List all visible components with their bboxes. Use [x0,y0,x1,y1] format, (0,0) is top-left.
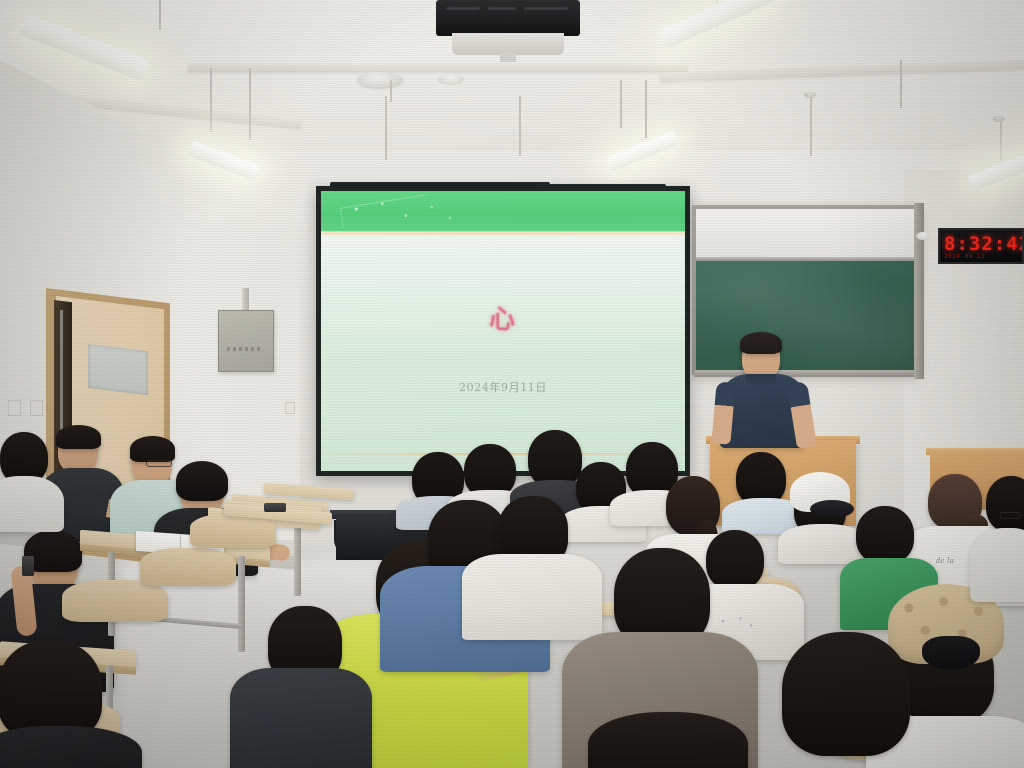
detector-stem [390,80,392,102]
hanger-rod-b [519,96,521,156]
torso [230,668,372,768]
light-rod-2 [210,68,212,132]
light-rod-4b [620,80,622,128]
head [782,632,910,756]
head [856,506,914,564]
chalkboard-right-edge [914,203,924,379]
light-rod-1 [159,0,161,30]
hair [130,436,175,462]
light-rod-5 [1000,120,1002,162]
torso [970,528,1024,602]
audience-member-dark-hair-front-right [764,632,934,768]
slide-header-decoration [333,197,463,227]
whiteboard-panel [696,209,916,259]
hanger-rod-d [900,60,902,108]
clock-time-display: 8:32:42 [944,233,1024,255]
chair-back [190,514,276,548]
smartphone-in-hand [22,556,34,576]
smoke-detector [357,72,403,88]
door-window [88,344,148,395]
light-mount-5 [993,116,1005,122]
electrical-panel-box [218,310,274,372]
wall-socket[interactable] [285,402,295,414]
audience-member-left-edge-back [0,432,64,522]
projection-screen: 心 2024年9月11日 [321,191,685,471]
slide-title: 心 [321,299,685,336]
presenter [714,330,834,470]
electrical-conduit [242,288,249,312]
presenter-collar [746,374,776,387]
slide-date: 2024年9月11日 [321,379,685,395]
ceiling-dome-light [438,74,464,85]
hanger-rod-a [385,96,387,160]
hanger-rod-c [810,96,812,156]
slide-header-band [321,191,685,235]
head [0,640,102,740]
smartphone-on-desk [264,503,286,512]
light-switch-plate-1[interactable] [8,400,21,416]
hanger-cap-c [804,92,816,98]
led-wall-clock: 8:32:42 2024 09 11 [938,228,1024,264]
light-rod-4 [645,80,647,138]
glasses [1000,512,1020,519]
light-rod-2b [249,68,251,140]
light-switch-plate-2[interactable] [30,400,43,416]
door-hinge-strip [60,310,63,430]
presenter-hair [740,332,782,354]
ceiling-beam-mid [188,64,688,72]
torso [0,726,142,768]
ceiling-projector [436,0,580,36]
audience-member-bottom-center [588,712,768,768]
wall-sensor [916,232,930,240]
classroom-photo-scene: 心 2024年9月11日 8:32:42 2024 09 11 [0,0,1024,768]
head [986,476,1024,532]
audience-member-far-right-edge [980,476,1024,596]
hair [176,461,228,501]
audience-member-front-left-bottom [0,640,140,768]
projector-mount [500,52,516,62]
clock-date-display: 2024 09 11 [944,253,1024,260]
chair-back [140,548,236,586]
projection-screen-frame: 心 2024年9月11日 [316,186,690,476]
head [588,712,748,768]
chair-back [62,580,168,622]
audience-member-dark-shirt-mid [240,606,360,768]
shirt-print-text: de la [936,556,954,565]
torso [0,476,64,532]
